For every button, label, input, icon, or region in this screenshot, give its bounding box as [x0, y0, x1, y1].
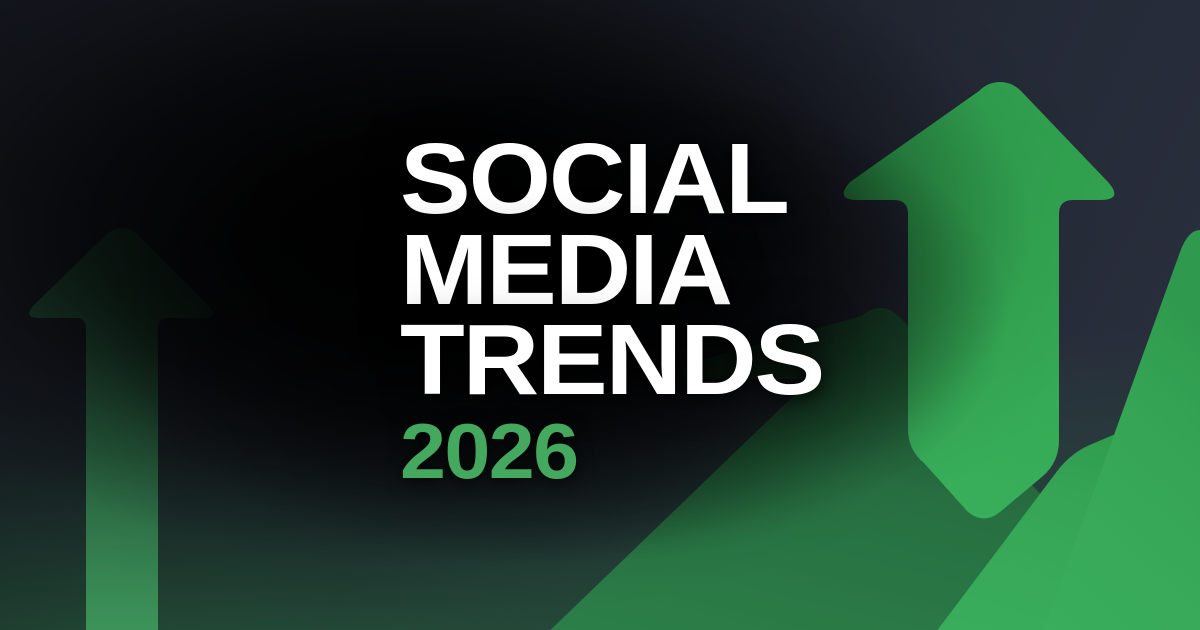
- headline-line-2: MEDIA: [400, 225, 994, 316]
- headline-line-3: TRENDS: [400, 315, 994, 406]
- headline-year: 2026: [400, 416, 994, 488]
- social-media-trends-banner: SOCIAL MEDIA TRENDS 2026: [0, 0, 1200, 630]
- headline-line-1: SOCIAL: [400, 134, 994, 225]
- headline-block: SOCIAL MEDIA TRENDS 2026: [400, 134, 960, 487]
